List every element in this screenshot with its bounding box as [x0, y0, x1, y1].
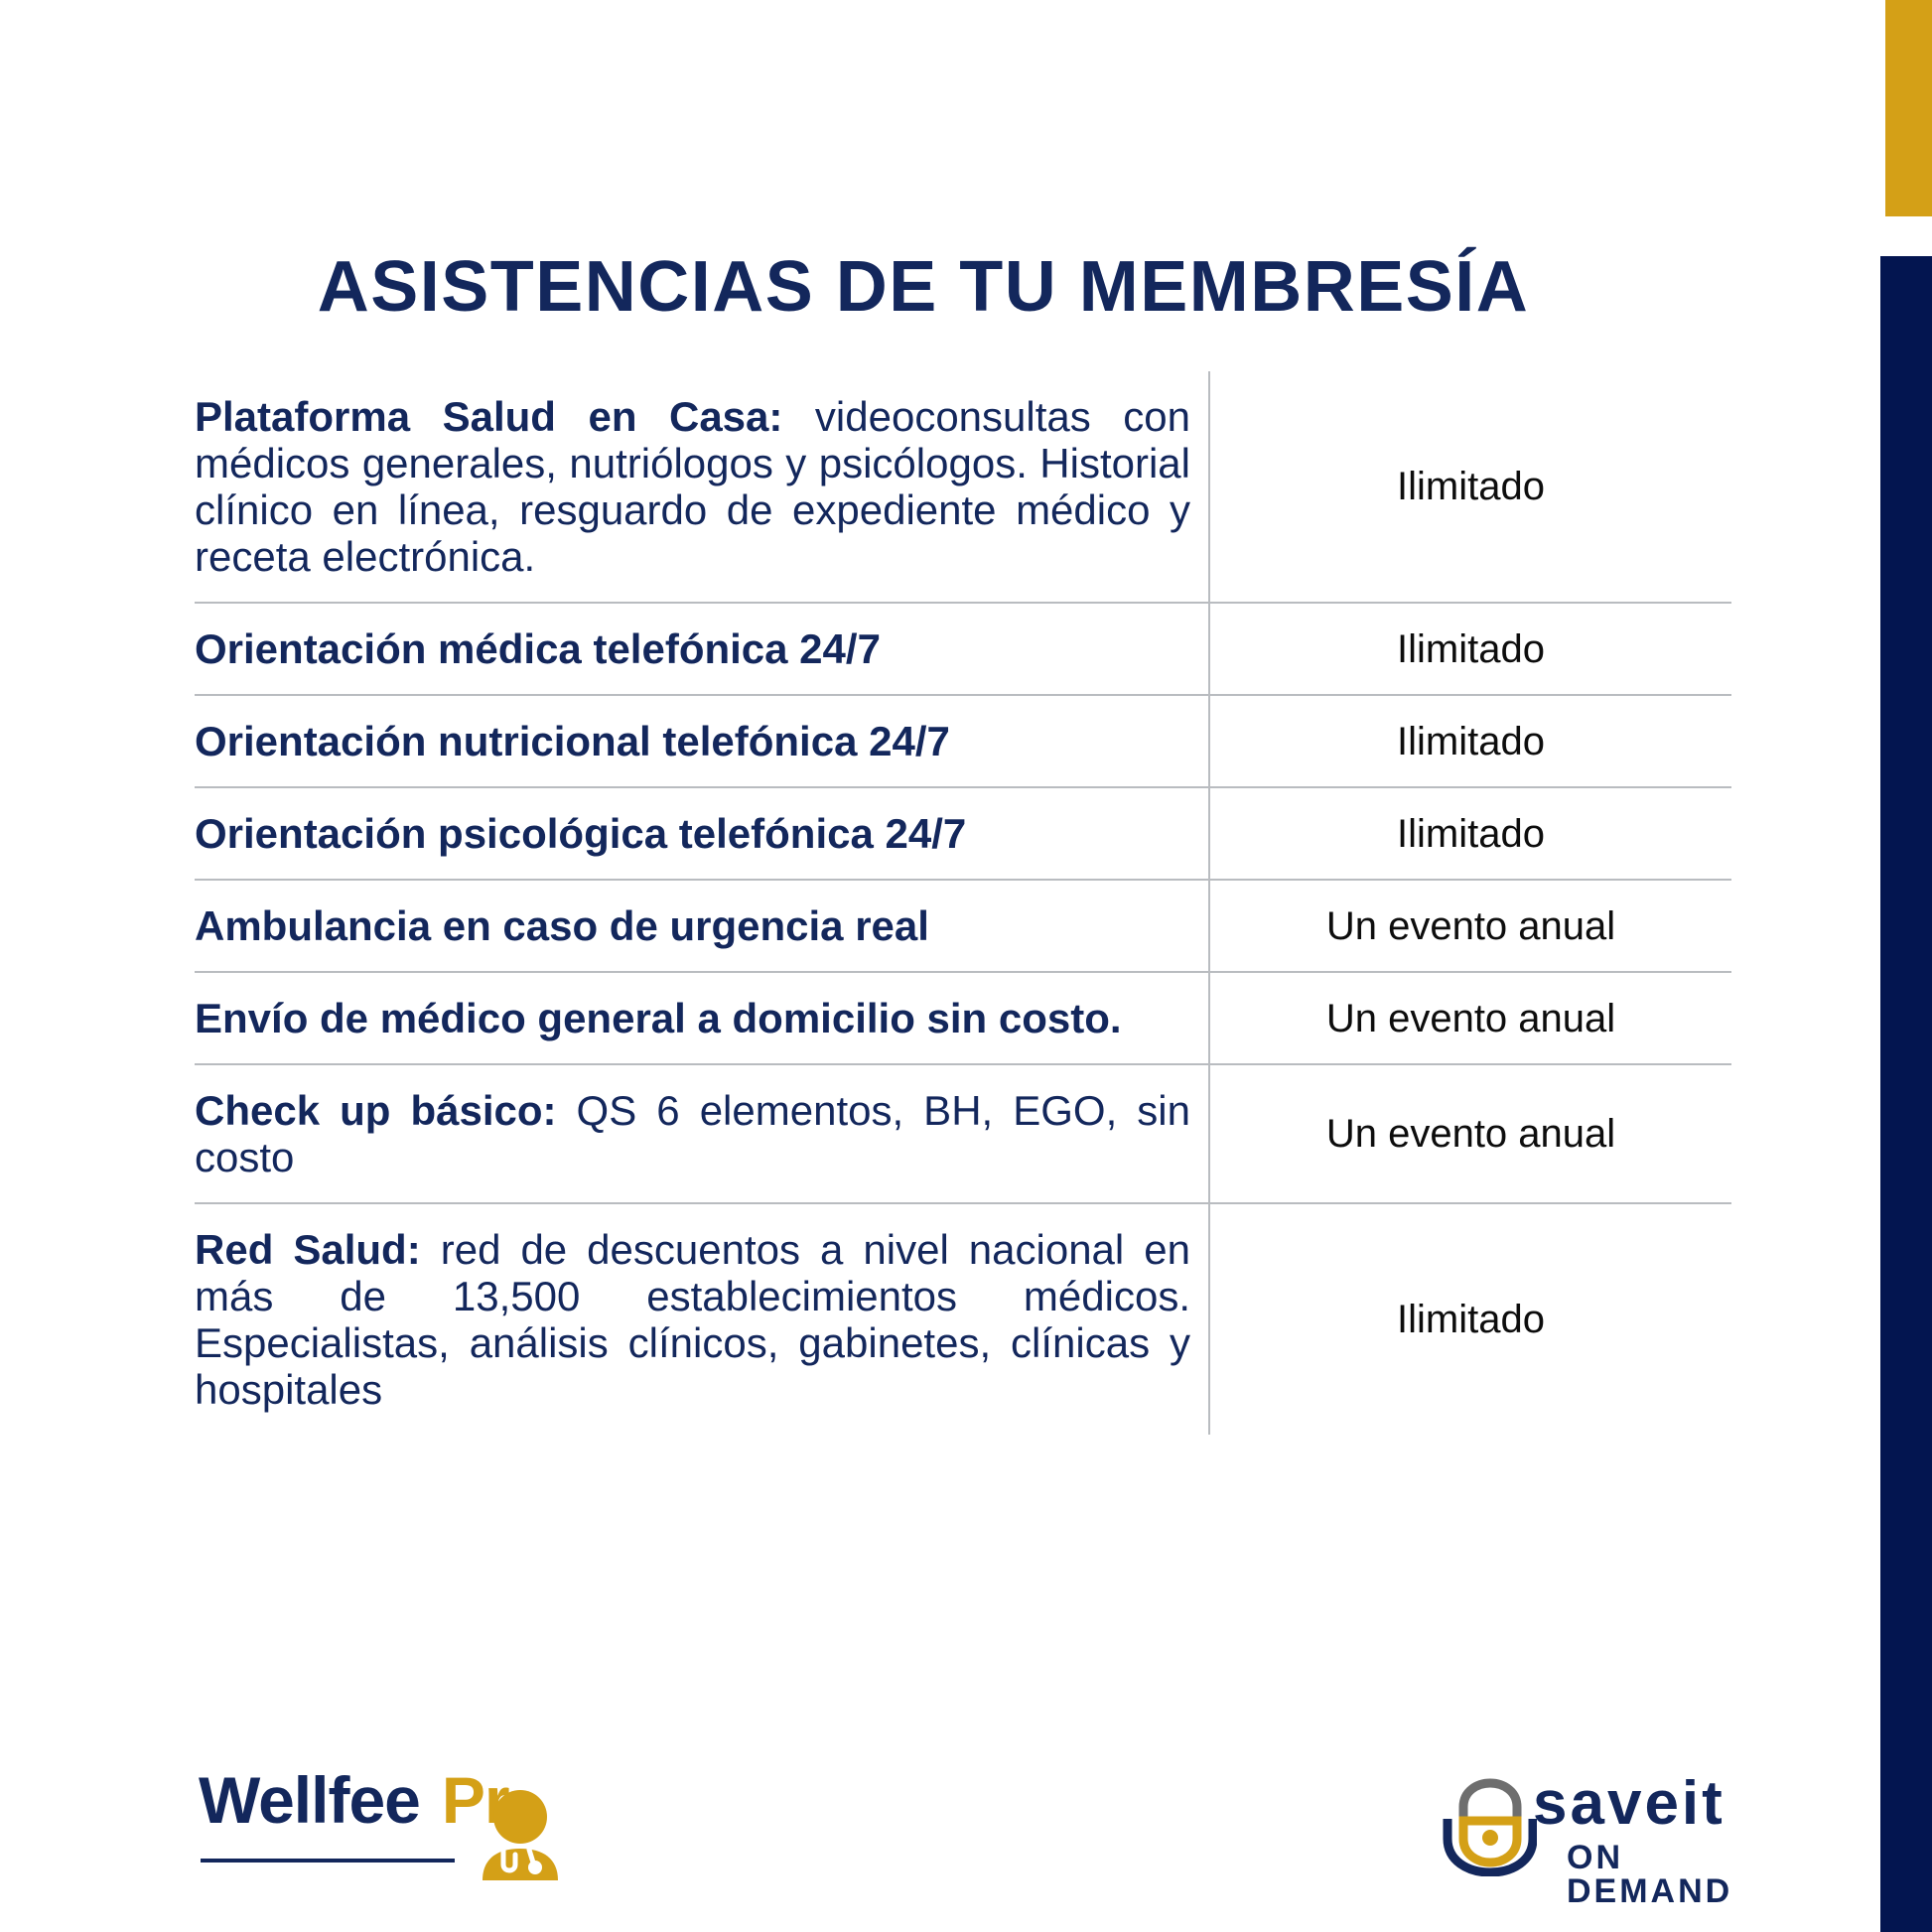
- value-text: Un evento anual: [1326, 1112, 1615, 1156]
- value-text: Un evento anual: [1326, 904, 1615, 948]
- wellfee-underline: [201, 1859, 455, 1863]
- feature-lead: Plataforma Salud en Casa:: [195, 393, 782, 440]
- feature-cell: Orientación psicológica telefónica 24/7: [195, 788, 1208, 879]
- value-text: Ilimitado: [1397, 812, 1545, 856]
- feature-cell: Orientación nutricional telefónica 24/7: [195, 696, 1208, 786]
- value-text: Ilimitado: [1397, 627, 1545, 671]
- value-text: Ilimitado: [1397, 465, 1545, 508]
- feature-lead: Check up básico:: [195, 1087, 557, 1134]
- doctor-icon: [480, 1789, 561, 1880]
- feature-lead: Orientación nutricional telefónica 24/7: [195, 718, 950, 764]
- page-title: ASISTENCIAS DE TU MEMBRESÍA: [0, 246, 1847, 328]
- value-cell: Un evento anual: [1208, 1065, 1731, 1202]
- feature-cell: Red Salud: red de descuentos a nivel nac…: [195, 1204, 1208, 1435]
- feature-lead: Ambulancia en caso de urgencia real: [195, 902, 929, 949]
- value-cell: Ilimitado: [1208, 371, 1731, 602]
- feature-lead: Red Salud:: [195, 1226, 421, 1273]
- value-cell: Ilimitado: [1208, 696, 1731, 786]
- benefits-table: Plataforma Salud en Casa: videoconsultas…: [195, 371, 1731, 1435]
- table-row: Plataforma Salud en Casa: videoconsultas…: [195, 371, 1731, 604]
- membership-benefits-page: ASISTENCIAS DE TU MEMBRESÍA Plataforma S…: [0, 0, 1932, 1932]
- lock-icon: [1442, 1777, 1537, 1876]
- value-cell: Ilimitado: [1208, 1204, 1731, 1435]
- value-text: Ilimitado: [1397, 720, 1545, 763]
- feature-lead: Orientación médica telefónica 24/7: [195, 625, 881, 672]
- wellfee-pro-logo: WellfeePr: [199, 1767, 616, 1916]
- feature-cell: Ambulancia en caso de urgencia real: [195, 881, 1208, 971]
- value-text: Ilimitado: [1397, 1298, 1545, 1341]
- table-row: Orientación nutricional telefónica 24/7 …: [195, 696, 1731, 788]
- value-cell: Un evento anual: [1208, 881, 1731, 971]
- saveit-main-text: saveit: [1533, 1773, 1759, 1835]
- saveit-logo: saveit ON DEMAND: [1442, 1773, 1759, 1902]
- feature-cell: Orientación médica telefónica 24/7: [195, 604, 1208, 694]
- value-cell: Un evento anual: [1208, 973, 1731, 1063]
- table-row: Envío de médico general a domicilio sin …: [195, 973, 1731, 1065]
- table-row: Orientación médica telefónica 24/7 Ilimi…: [195, 604, 1731, 696]
- feature-cell: Check up básico: QS 6 elementos, BH, EGO…: [195, 1065, 1208, 1202]
- feature-lead: Orientación psicológica telefónica 24/7: [195, 810, 966, 857]
- saveit-wordmark: saveit ON DEMAND: [1533, 1773, 1759, 1908]
- table-row: Check up básico: QS 6 elementos, BH, EGO…: [195, 1065, 1731, 1204]
- edge-bar-navy: [1880, 256, 1932, 1932]
- table-row: Orientación psicológica telefónica 24/7 …: [195, 788, 1731, 881]
- feature-lead: Envío de médico general a domicilio sin …: [195, 995, 1122, 1041]
- feature-cell: Plataforma Salud en Casa: videoconsultas…: [195, 371, 1208, 602]
- value-text: Un evento anual: [1326, 997, 1615, 1040]
- table-row: Ambulancia en caso de urgencia real Un e…: [195, 881, 1731, 973]
- table-row: Red Salud: red de descuentos a nivel nac…: [195, 1204, 1731, 1435]
- value-cell: Ilimitado: [1208, 604, 1731, 694]
- edge-bar-gold: [1885, 0, 1932, 216]
- wellfee-word: Wellfee: [199, 1763, 420, 1837]
- feature-cell: Envío de médico general a domicilio sin …: [195, 973, 1208, 1063]
- saveit-sub-text: ON DEMAND: [1567, 1841, 1759, 1908]
- value-cell: Ilimitado: [1208, 788, 1731, 879]
